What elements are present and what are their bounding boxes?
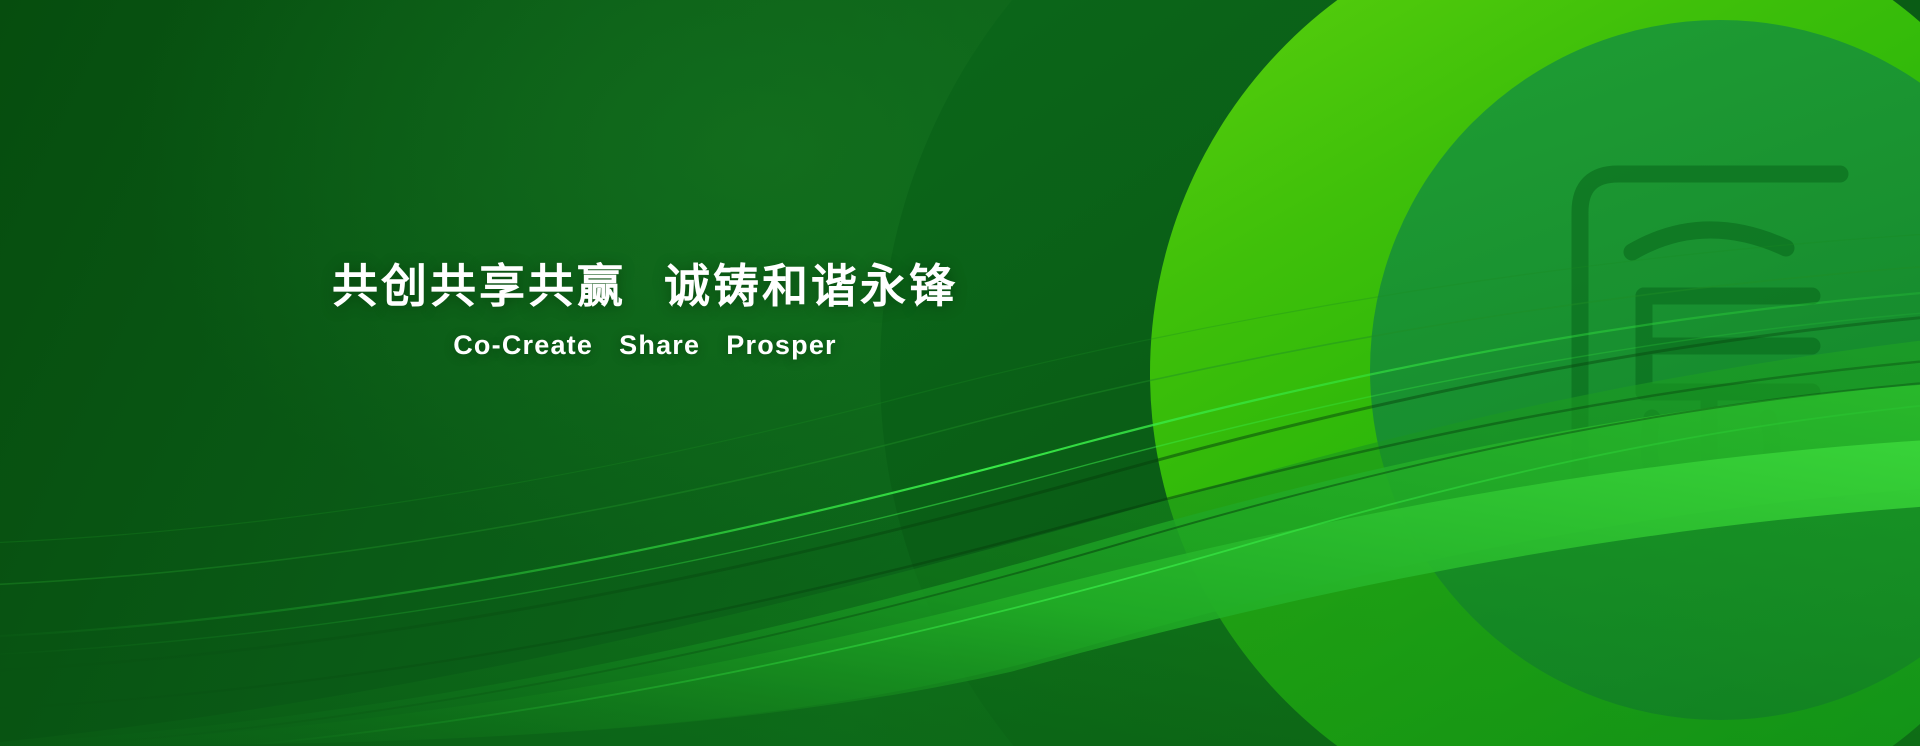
page-title: 共创共享共赢 诚铸和谐永锋	[0, 258, 1290, 316]
hero-text-block: 共创共享共赢 诚铸和谐永锋 Co-Create Share Prosper	[0, 258, 1290, 361]
hero-banner: 共创共享共赢 诚铸和谐永锋 Co-Create Share Prosper	[0, 0, 1920, 746]
company-seal-watermark-icon	[1540, 140, 1870, 500]
page-subtitle: Co-Create Share Prosper	[0, 330, 1290, 361]
